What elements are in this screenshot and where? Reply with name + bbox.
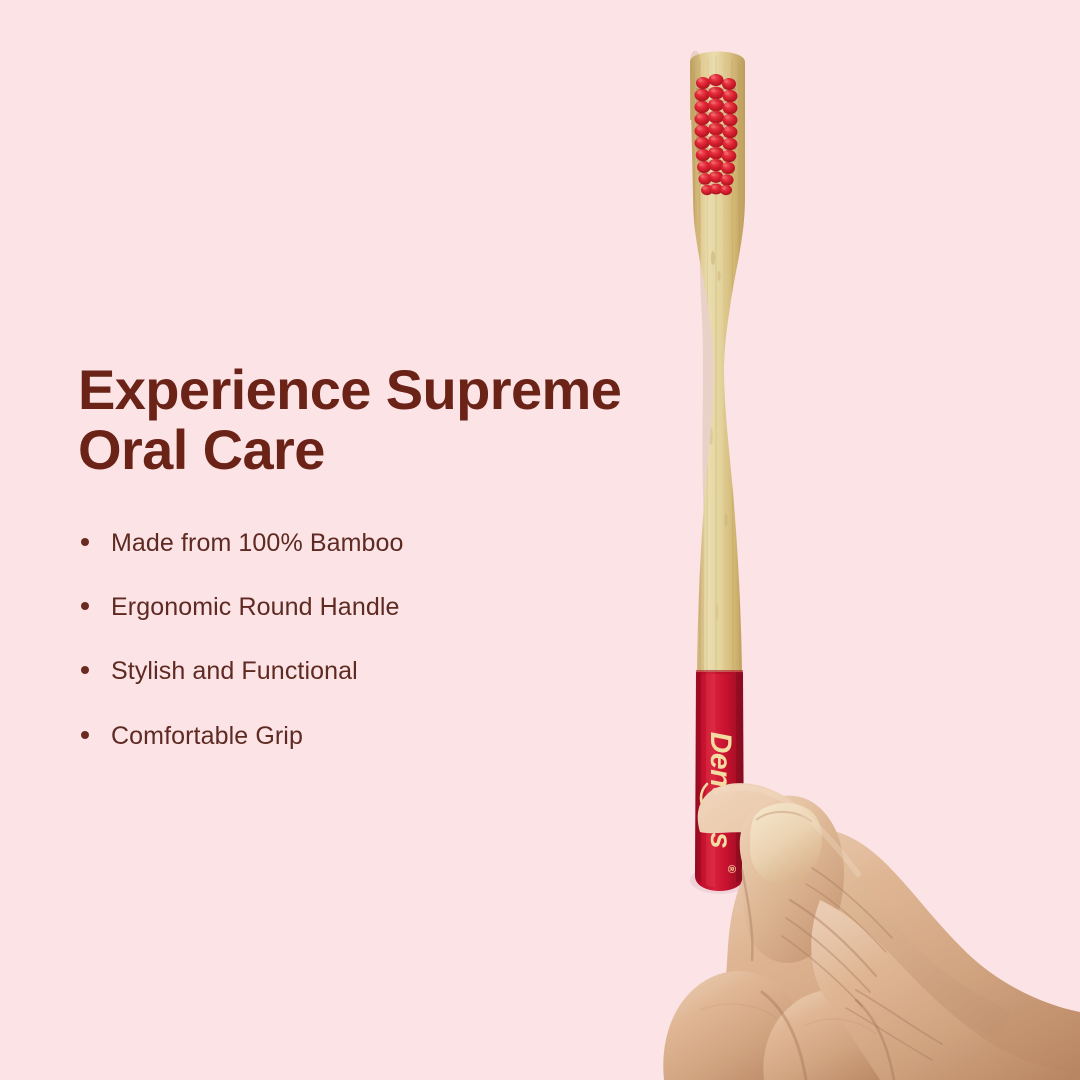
list-item-label: Ergonomic Round Handle: [111, 593, 399, 621]
bullet-dot-icon: [81, 731, 89, 739]
thumbnail: [750, 803, 822, 884]
brand-wordmark: Dencrus ®: [701, 732, 737, 873]
bullet-dot-icon: [81, 602, 89, 610]
thumb: [740, 796, 844, 963]
knuckle-two: [763, 990, 895, 1080]
middle-finger: [811, 900, 1080, 1080]
list-item: Made from 100% Bamboo: [78, 528, 638, 559]
bristles: [695, 74, 738, 195]
feature-list: Made from 100% Bamboo Ergonomic Round Ha…: [78, 528, 638, 752]
list-item-label: Stylish and Functional: [111, 657, 358, 685]
list-item: Stylish and Functional: [78, 656, 638, 687]
knuckle-one: [663, 971, 808, 1080]
index-finger: [698, 783, 1010, 1040]
bullet-dot-icon: [81, 538, 89, 546]
registered-trademark-symbol: ®: [725, 865, 737, 873]
page-title: Experience Supreme Oral Care: [78, 360, 638, 480]
list-item-label: Comfortable Grip: [111, 722, 303, 750]
product-feature-banner: Experience Supreme Oral Care Made from 1…: [0, 0, 1080, 1080]
list-item: Comfortable Grip: [78, 721, 638, 752]
bullet-dot-icon: [81, 666, 89, 674]
list-item-label: Made from 100% Bamboo: [111, 529, 404, 557]
copy-block: Experience Supreme Oral Care Made from 1…: [78, 360, 638, 752]
list-item: Ergonomic Round Handle: [78, 592, 638, 623]
hand-palm: [702, 828, 1080, 1080]
red-handle-grip: [695, 672, 744, 891]
brand-name: Dencrus: [704, 732, 737, 849]
